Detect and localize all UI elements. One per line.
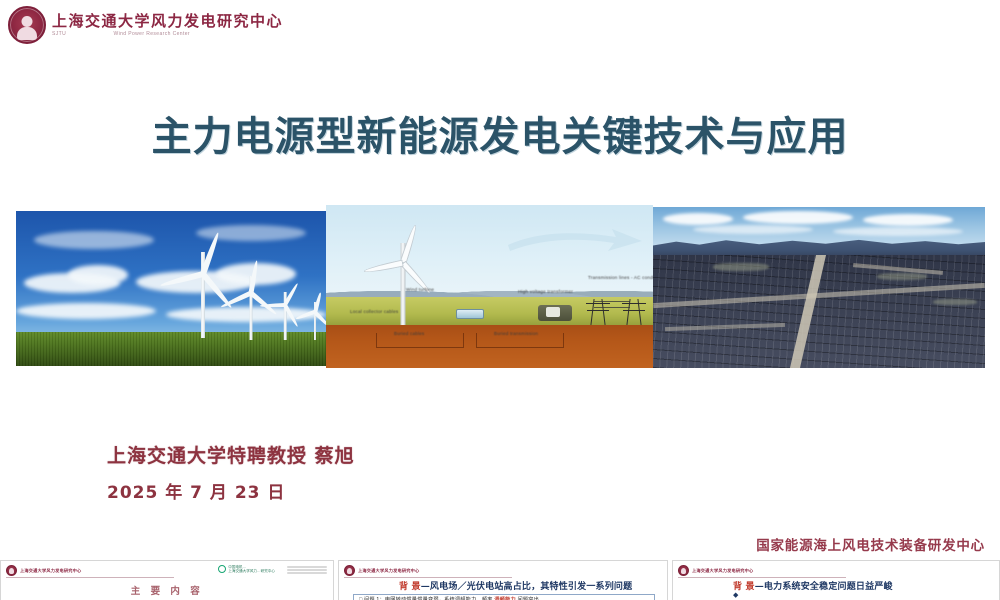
transmission-pylon-icon — [626, 299, 642, 325]
green-circle-icon — [218, 565, 226, 573]
thumb-content-text: ◆ — [733, 591, 738, 599]
thumb-heading-body: —电力系统安全稳定问题日益严峻 — [755, 582, 893, 592]
organization-name-en-right: Wind Power Research Center — [113, 32, 190, 37]
mini-logo-rule — [6, 577, 174, 578]
diagram-label-wind-turbine: Wind turbine — [406, 287, 434, 292]
diagram-label-local-cables: Local collector cables — [350, 309, 398, 314]
cloud-shape — [68, 265, 128, 285]
thumb-heading-prefix: 背 景 — [399, 582, 421, 592]
slide-title: 主力电源型新能源发电关键技术与应用 — [0, 104, 1000, 162]
organization-name-cn: 上海交通大学风力发电研究中心 — [52, 14, 283, 29]
mini-logo-rule — [678, 577, 846, 578]
sjtu-seal-icon — [344, 565, 355, 576]
header-band: 上海交通大学风力发电研究中心 SJTU Wind Power Research … — [0, 0, 1000, 52]
transmission-pylon-icon — [590, 299, 606, 325]
presentation-date: 2025 年 7 月 23 日 — [107, 478, 285, 503]
presenter-name: 上海交通大学特聘教授 蔡旭 — [107, 441, 355, 468]
organization-logo-text: 上海交通大学风力发电研究中心 SJTU Wind Power Research … — [52, 14, 283, 37]
blurred-text-lines — [287, 566, 327, 575]
thumb-content-text: □ 问题 1：电网转动惯量惯量变弱，系统调频能力、频率 调频能力 问题突出 — [359, 596, 539, 600]
research-center-name: 国家能源海上风电技术装备研发中心 — [756, 534, 985, 554]
diagram-label-hv-transformer: High voltage transformer — [518, 289, 573, 294]
cloud-shape — [16, 303, 156, 319]
terrain-patch — [933, 299, 977, 305]
diagram-label-transmission-lines: Transmission lines - AC conductors — [588, 275, 653, 280]
cloud-shape — [863, 214, 953, 226]
mini-organization-logo: 上海交通大学风力发电研究中心 — [6, 565, 81, 576]
sjtu-seal-icon — [8, 6, 46, 44]
terrain-patch — [877, 273, 927, 280]
wind-flow-arrow-icon — [508, 227, 644, 257]
mini-organization-logo: 上海交通大学风力发电研究中心 — [344, 565, 419, 576]
power-line — [594, 301, 630, 302]
thumb-heading: 背 景—风电场／光伏电站高占比，其特性引发一系列问题 — [399, 579, 632, 592]
thumb-background-high-penetration[interactable]: 上海交通大学风力发电研究中心 背 景—风电场／光伏电站高占比，其特性引发一系列问… — [338, 560, 668, 600]
mini-organization-name: 上海交通大学风力发电研究中心 — [692, 568, 753, 574]
diagram-soil-layer — [326, 325, 653, 368]
thumb-main-contents[interactable]: 上海交通大学风力发电研究中心 中国电机… 上海交通大学风力…研究中心 主 要 内… — [0, 560, 334, 600]
wind-power-transmission-diagram: Wind turbine Local collector cables Buri… — [326, 205, 653, 368]
slide-screenshot: 上海交通大学风力发电研究中心 SJTU Wind Power Research … — [0, 0, 1000, 600]
thumb-title-main-contents: 主 要 内 容 — [1, 583, 333, 597]
mini-organization-logo: 上海交通大学风力发电研究中心 — [678, 565, 753, 576]
solar-pv-farm-aerial-photo — [653, 207, 985, 368]
thumb-heading: 背 景—电力系统安全稳定问题日益严峻 — [733, 579, 893, 592]
diagram-label-buried-transmission: Buried transmission — [494, 331, 538, 336]
wind-turbine-icon — [298, 292, 326, 340]
cloud-shape — [743, 211, 853, 224]
organization-name-en-left: SJTU — [52, 32, 66, 37]
photo-strip: Wind turbine Local collector cables Buri… — [0, 200, 1000, 375]
thumb-background-stability[interactable]: 上海交通大学风力发电研究中心 背 景—电力系统安全稳定问题日益严峻 ◆ — [672, 560, 1000, 600]
cloud-shape — [663, 213, 733, 225]
mini-organization-name: 上海交通大学风力发电研究中心 — [20, 568, 81, 574]
diagram-label-buried-cables: Buried cables — [394, 331, 424, 336]
transformer-icon — [538, 305, 572, 321]
mini-logo-rule — [344, 577, 512, 578]
terrain-patch — [713, 263, 769, 271]
junction-box-icon — [456, 309, 484, 319]
power-line — [594, 307, 630, 308]
slide-thumbnail-strip: 上海交通大学风力发电研究中心 中国电机… 上海交通大学风力…研究中心 主 要 内… — [0, 560, 1000, 600]
ieee-green-badge: 中国电机… 上海交通大学风力…研究中心 — [218, 565, 275, 574]
cloud-shape — [34, 231, 154, 249]
wind-farm-photo — [16, 211, 326, 366]
sjtu-seal-icon — [6, 565, 17, 576]
organization-logo: 上海交通大学风力发电研究中心 SJTU Wind Power Research … — [8, 6, 283, 44]
sjtu-seal-icon — [678, 565, 689, 576]
thumb-heading-body: —风电场／光伏电站高占比，其特性引发一系列问题 — [421, 582, 633, 592]
cloud-shape — [693, 225, 813, 234]
green-badge-text: 中国电机… 上海交通大学风力…研究中心 — [228, 565, 275, 574]
cloud-shape — [833, 227, 963, 236]
organization-name-en: SJTU Wind Power Research Center — [52, 32, 190, 37]
mini-organization-name: 上海交通大学风力发电研究中心 — [358, 568, 419, 574]
